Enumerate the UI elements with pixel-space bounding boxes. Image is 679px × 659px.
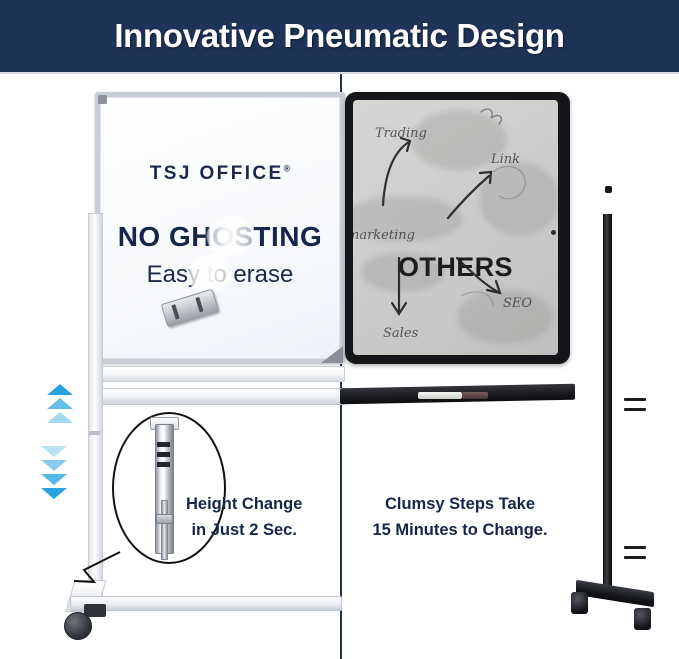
right-caption-line1: Clumsy Steps Take (348, 492, 572, 518)
chevron-down-icon-3 (41, 474, 67, 485)
frame-corner-bracket-icon (98, 95, 107, 104)
chevron-up-icon-3 (47, 412, 73, 423)
callout-pointer-tail (74, 548, 122, 584)
stand-base-bar (70, 596, 342, 611)
black-post-mark-3 (624, 546, 646, 549)
black-post-mark-2 (624, 408, 646, 411)
spring-band-1 (157, 442, 170, 447)
right-caption-line2: 15 Minutes to Change. (348, 518, 572, 544)
others-caster-wheel-1-icon (571, 592, 588, 614)
handwriting-link: Link (491, 152, 520, 167)
black-post-mark-4 (624, 556, 646, 559)
gas-spring-nut (156, 514, 173, 524)
registered-trademark-icon: ® (284, 164, 291, 174)
left-caption-line2: in Just 2 Sec. (186, 518, 302, 544)
marker-red-icon (462, 392, 488, 399)
brand-logo: TSJ OFFICE® (100, 163, 340, 185)
others-whiteboard-frame: Trading Link marketing Sales SEO OTHERS (345, 92, 570, 364)
tsj-whiteboard-frame: TSJ OFFICE® NO GHOSTING Easy to erase (95, 92, 345, 364)
whiteboard-vertical-post (88, 213, 103, 605)
others-caster-wheel-2-icon (634, 608, 651, 630)
handwriting-seo: SEO (503, 296, 532, 311)
left-caption: Height Change in Just 2 Sec. (186, 492, 302, 543)
brand-logo-text: TSJ OFFICE (150, 163, 284, 184)
chevron-down-icon-4 (41, 488, 67, 499)
post-height-mark (89, 431, 100, 435)
chevron-down-icon-1 (41, 446, 67, 457)
chevron-up-icon-1 (47, 384, 73, 395)
right-caption: Clumsy Steps Take 15 Minutes to Change. (348, 492, 572, 543)
chevron-down-icon-2 (41, 460, 67, 471)
caster-wheel-icon (64, 612, 92, 640)
left-caption-line1: Height Change (186, 492, 302, 518)
whiteboard-pen-tray (96, 366, 345, 382)
others-vertical-post (603, 214, 612, 589)
handwriting-trading: Trading (375, 126, 427, 141)
others-whiteboard-surface: Trading Link marketing Sales SEO OTHERS (353, 100, 558, 355)
gas-spring-rod (161, 500, 168, 560)
infographic-canvas: Innovative Pneumatic Design TSJ OFFICE® … (0, 0, 679, 659)
handwriting-sales: Sales (383, 326, 418, 341)
black-post-pin-icon (605, 186, 612, 193)
whiteboard-support-rail (88, 388, 345, 405)
frame-bottom-bracket-icon (321, 346, 343, 363)
spring-band-2 (157, 452, 170, 457)
others-headline: OTHERS (353, 252, 558, 283)
page-title: Innovative Pneumatic Design (0, 0, 679, 72)
black-post-mark-1 (624, 398, 646, 401)
chevron-up-icon-2 (47, 398, 73, 409)
frame-screw-icon (551, 230, 556, 235)
handwriting-marketing: marketing (353, 228, 415, 243)
marker-white-icon (418, 392, 462, 399)
spring-band-3 (157, 462, 170, 467)
